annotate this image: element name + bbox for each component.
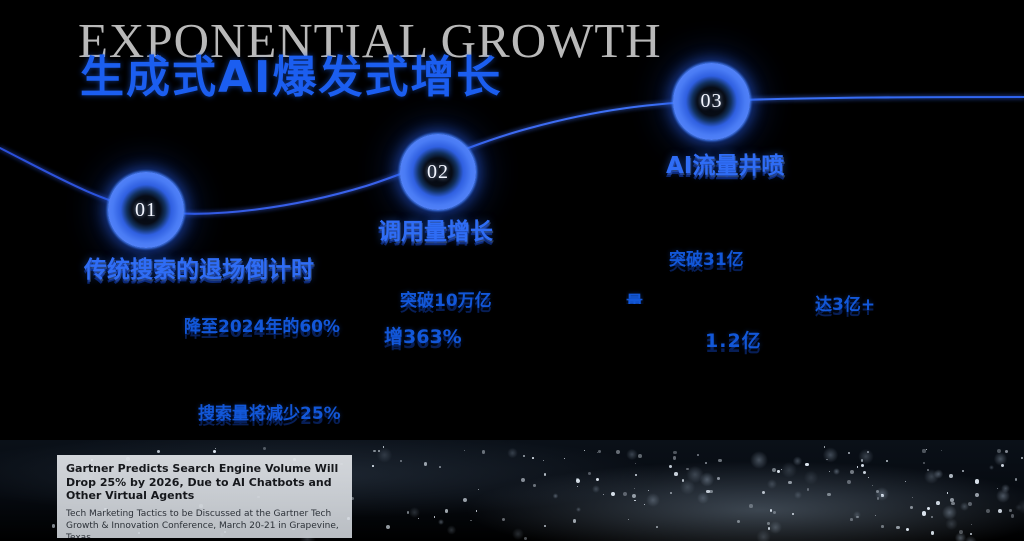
node-number-03: 03 xyxy=(701,90,723,113)
headline-chinese: 生成式AI爆发式增长 xyxy=(80,56,502,100)
news-clipping-card[interactable]: Gartner Predicts Search Engine Volume Wi… xyxy=(57,455,352,538)
metric-label: 增363% xyxy=(384,322,462,349)
timeline-node-02[interactable]: 02 xyxy=(400,134,476,210)
metric-label: 降至2024年的60% xyxy=(184,312,340,337)
timeline-node-01[interactable]: 01 xyxy=(108,172,184,248)
node-title-03: AI流量井喷 xyxy=(666,146,784,180)
news-headline: Gartner Predicts Search Engine Volume Wi… xyxy=(66,462,343,503)
news-subheadline: Tech Marketing Tactics to be Discussed a… xyxy=(66,508,343,539)
node-number-01: 01 xyxy=(135,199,157,222)
metric-label: 突破31亿 xyxy=(669,245,744,270)
timeline-node-03[interactable]: 03 xyxy=(673,63,750,140)
metric-label-partial: 量 xyxy=(626,288,644,304)
metric-label: 达3亿+ xyxy=(815,290,875,315)
metric-label: 搜索量将减少25% xyxy=(198,399,341,424)
metric-label: 突破10万亿 xyxy=(400,286,492,311)
metric-label: 1.2亿 xyxy=(705,326,762,353)
slide-canvas: EXPONENTIAL GROWTH 生成式AI爆发式增长 01 02 03 传… xyxy=(0,0,1024,541)
node-number-02: 02 xyxy=(427,161,449,184)
node-title-01: 传统搜索的退场倒计时 xyxy=(84,250,314,284)
node-title-02: 调用量增长 xyxy=(378,212,493,246)
